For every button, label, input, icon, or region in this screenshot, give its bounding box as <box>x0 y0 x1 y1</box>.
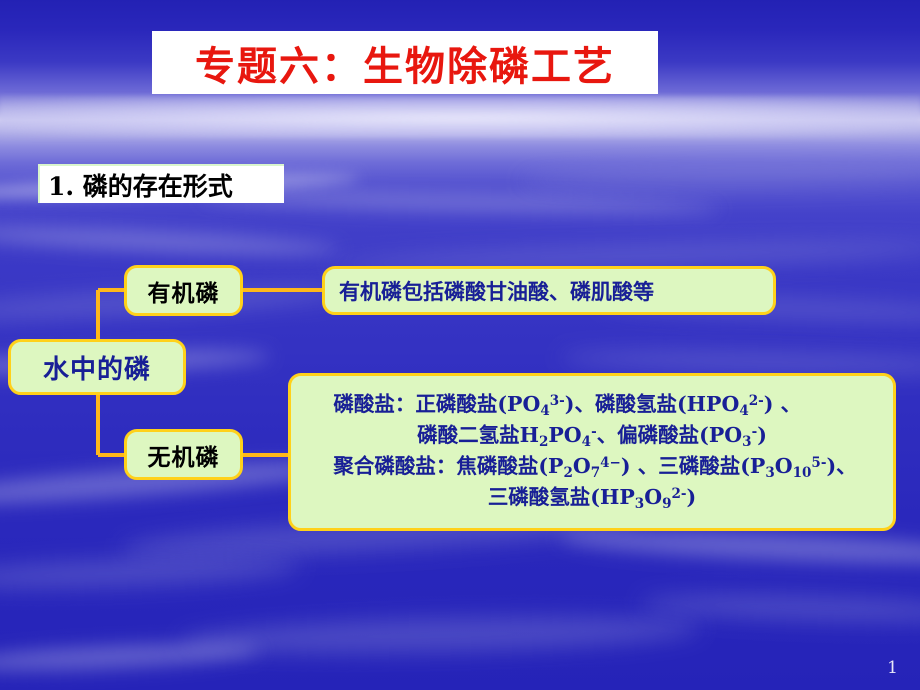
node-inorganic-phosphorus: 无机磷 <box>124 429 243 480</box>
node-organic-phosphorus: 有机磷 <box>124 265 243 316</box>
node-water-phosphorus: 水中的磷 <box>8 339 186 395</box>
node-label: 水中的磷 <box>43 349 151 386</box>
detail-line: 磷酸盐：正磷酸盐(PO43-)、磷酸氢盐(HPO42-) 、 <box>327 390 856 421</box>
background-horizon-glow <box>0 96 920 138</box>
node-detail-text: 有机磷包括磷酸甘油酸、磷肌酸等 <box>339 276 654 306</box>
detail-line: 三磷酸氢盐(HP3O92-) <box>327 483 856 514</box>
section-heading-box: 1. 磷的存在形式 <box>38 164 284 203</box>
detail-line: 聚合磷酸盐：焦磷酸盐(P2O74−) 、三磷酸盐(P3O105-)、 <box>327 452 856 483</box>
detail-line: 磷酸二氢盐H2PO4-、偏磷酸盐(PO3-) <box>327 421 856 452</box>
node-organic-detail: 有机磷包括磷酸甘油酸、磷肌酸等 <box>322 266 776 315</box>
node-inorganic-detail: 磷酸盐：正磷酸盐(PO43-)、磷酸氢盐(HPO42-) 、磷酸二氢盐H2PO4… <box>288 373 896 531</box>
page-title: 专题六：生物除磷工艺 <box>195 34 615 92</box>
node-label: 无机磷 <box>148 438 220 472</box>
slide-canvas: 专题六：生物除磷工艺 1. 磷的存在形式 水中的磷 有机磷 无机磷 有机磷包括磷… <box>0 0 920 690</box>
page-number: 1 <box>887 658 898 678</box>
node-label: 有机磷 <box>148 274 220 308</box>
slide-title-box: 专题六：生物除磷工艺 <box>152 31 658 94</box>
section-heading: 1. 磷的存在形式 <box>48 167 233 203</box>
node-detail-lines: 磷酸盐：正磷酸盐(PO43-)、磷酸氢盐(HPO42-) 、磷酸二氢盐H2PO4… <box>327 390 856 514</box>
